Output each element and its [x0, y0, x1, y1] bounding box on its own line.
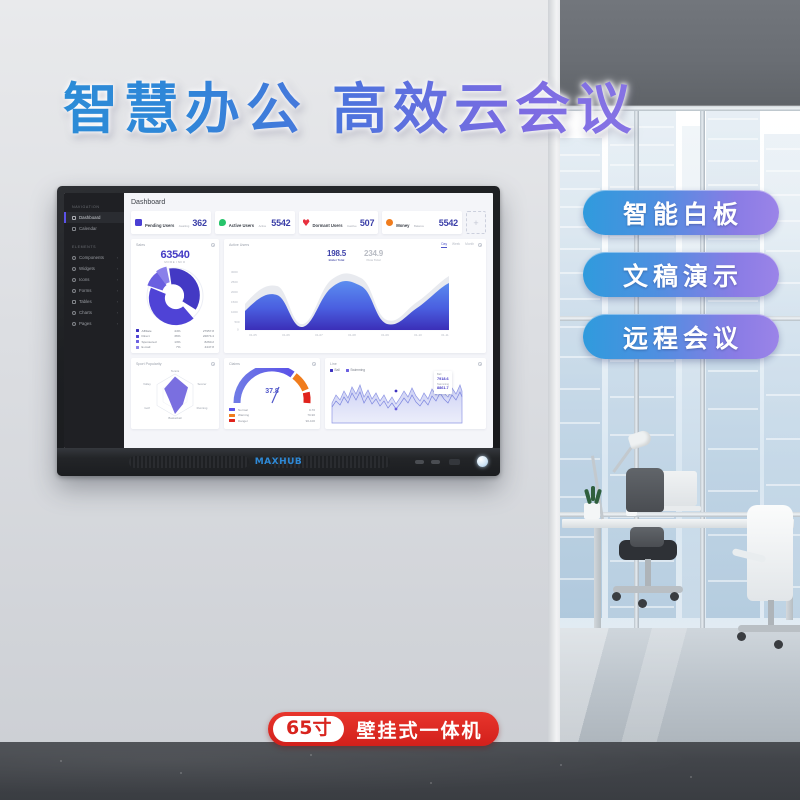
tab-month[interactable]: Month: [465, 242, 474, 248]
sidebar-item-tables[interactable]: Tables ›: [64, 296, 124, 307]
sidebar-section-navigation: NAVIGATION: [64, 200, 124, 212]
legend-swatch: [136, 340, 139, 343]
sidebar-item-label: Pages: [79, 321, 91, 326]
page-icon: [72, 322, 76, 326]
gear-icon[interactable]: [312, 362, 316, 366]
chat-icon: [219, 219, 226, 226]
sidebar-item-label: Tables: [79, 299, 92, 304]
stat-card-title: Pending Users: [145, 223, 174, 228]
brand-logo: MAXHUB: [255, 457, 303, 467]
card-title: Sport Popularity: [136, 362, 214, 366]
sidebar-item-pages[interactable]: Pages ›: [64, 318, 124, 329]
stat-card-value: 5542: [271, 218, 290, 228]
chart-icon: [72, 311, 76, 315]
card-title: Claims: [229, 362, 315, 366]
svg-text:Basketball: Basketball: [168, 416, 182, 420]
stat-card-title: Active Users: [229, 223, 254, 228]
sidebar-item-label: Components: [79, 255, 104, 260]
legend-label: Affiliate: [142, 329, 168, 333]
desk-leg: [594, 528, 601, 628]
active-users-card: Active Users Day Week Month 198.5 Boiler…: [224, 239, 486, 353]
gear-icon[interactable]: [211, 362, 215, 366]
sidebar-item-widgets[interactable]: Widgets ›: [64, 263, 124, 274]
tab-week[interactable]: Week: [452, 242, 460, 248]
legend-swatch: [330, 369, 333, 372]
legend-value: 27957.8: [181, 329, 215, 333]
gear-icon[interactable]: [478, 362, 482, 366]
chair-caster: [774, 640, 783, 649]
chair-caster: [638, 599, 647, 608]
legend-label: Sponsored: [142, 340, 168, 344]
office-floor: [560, 628, 800, 742]
chevron-right-icon: ›: [117, 267, 118, 271]
feature-pill-whiteboard[interactable]: 智能白板: [583, 190, 779, 235]
stat-card-pending-users[interactable]: Pending Users Awaiting 362: [131, 211, 211, 234]
display-screen[interactable]: NAVIGATION Dashboard Calendar ELEMENTS C…: [64, 193, 493, 448]
power-indicator[interactable]: [477, 456, 488, 467]
legend-swatch: [136, 335, 139, 338]
kpi-flow-total-value: 234.9: [364, 249, 383, 258]
kpi-boiler-total-value: 198.5: [327, 249, 346, 258]
legend-item: Danger 90-100: [229, 419, 315, 423]
tab-day[interactable]: Day: [441, 242, 447, 248]
stat-card-title: Money: [396, 223, 409, 228]
badge-size-label: 65寸: [273, 716, 344, 742]
legend-swatch: [346, 369, 349, 372]
legend-swatch: [229, 414, 235, 417]
product-badge: 65寸 壁挂式一体机: [268, 712, 499, 746]
legend-label: Swimming: [350, 368, 365, 372]
chevron-right-icon: ›: [117, 322, 118, 326]
stat-card-subtitle: Balance: [414, 224, 424, 228]
legend-label: E-mail: [142, 345, 168, 349]
stat-card-row: Pending Users Awaiting 362 Active Users …: [131, 211, 486, 234]
sidebar-item-label: Forms: [79, 288, 91, 293]
sidebar-item-label: Widgets: [79, 266, 95, 271]
legend-item: Normal 0-70: [229, 408, 315, 412]
chevron-right-icon: ›: [117, 300, 118, 304]
widget-row-lower: Sport Popularity Tennis Socce: [131, 358, 486, 429]
legend-range: 90-100: [306, 419, 315, 423]
sidebar-item-forms[interactable]: Forms ›: [64, 285, 124, 296]
calendar-icon: [72, 227, 76, 231]
plant-pot: [584, 503, 600, 519]
donut-chart: [137, 265, 213, 327]
legend-item-swimming[interactable]: Swimming: [346, 368, 365, 372]
chart-range-tabs: Day Week Month: [441, 242, 474, 248]
gear-icon[interactable]: [478, 243, 482, 247]
legend-label: Normal: [238, 408, 309, 412]
legend-item-ball[interactable]: Ball: [330, 368, 340, 372]
gear-icon[interactable]: [211, 243, 215, 247]
kpi-flow-total-label: Flow Total: [364, 258, 383, 262]
stat-card-value: 362: [192, 218, 206, 228]
chair-post: [645, 559, 651, 587]
chair-caster: [670, 592, 679, 601]
device-bezel-bottom: MAXHUB: [57, 448, 500, 476]
area-chart: 300025002000 15001000500 0 01-0501-06 01…: [229, 264, 451, 338]
ir-sensor: [449, 459, 460, 465]
interactive-flat-panel: NAVIGATION Dashboard Calendar ELEMENTS C…: [57, 186, 500, 476]
svg-text:Golf: Golf: [144, 406, 149, 410]
legend-value: 4447.8: [181, 345, 215, 349]
sidebar: NAVIGATION Dashboard Calendar ELEMENTS C…: [64, 193, 124, 448]
kpi-row: 198.5 Boiler Total 234.9 Flow Total: [229, 249, 481, 262]
tooltip-value: 7918.6: [437, 377, 449, 383]
legend-label: Danger: [238, 419, 306, 423]
dashboard-app: NAVIGATION Dashboard Calendar ELEMENTS C…: [64, 193, 493, 448]
chevron-right-icon: ›: [117, 289, 118, 293]
legend-label: Ball: [335, 368, 340, 372]
legend-item: Warning 70-90: [229, 413, 315, 417]
floor: [0, 742, 800, 800]
legend-range: 0-70: [309, 408, 315, 412]
add-card-button[interactable]: +: [466, 211, 486, 234]
legend-value: 22874.4: [181, 334, 215, 338]
chevron-right-icon: ›: [117, 256, 118, 260]
claims-gauge-card: Claims: [224, 358, 320, 429]
sidebar-item-label: Charts: [79, 310, 92, 315]
heart-icon: [303, 219, 310, 226]
sidebar-section-elements: ELEMENTS: [64, 240, 124, 252]
poster-headline: 智慧办公 高效云会议: [0, 64, 700, 144]
stat-card-title: Dormant Users: [313, 223, 343, 228]
chart-legend: Ball Swimming: [330, 368, 481, 372]
kpi-boiler-total-label: Boiler Total: [327, 258, 346, 262]
svg-text:01-07: 01-07: [315, 333, 323, 337]
chair-post: [768, 600, 774, 626]
card-title: Sales: [136, 243, 214, 247]
stat-card-value: 507: [360, 218, 374, 228]
legend-item: Affiliate 44% 27957.8: [136, 329, 214, 333]
legend-percent: 13%: [168, 340, 181, 344]
feature-pill-remote-meeting[interactable]: 远程会议: [583, 314, 779, 359]
sidebar-item-label: Calendar: [79, 226, 97, 231]
stat-card-subtitle: Inactive: [347, 224, 357, 228]
stat-card-dormant-users[interactable]: Dormant Users Inactive 507: [299, 211, 379, 234]
star-icon: [72, 278, 76, 282]
sales-donut-card: Sales 63540 MORE INFO: [131, 239, 219, 353]
svg-text:1000: 1000: [231, 310, 238, 314]
grid-icon: [72, 256, 76, 260]
sidebar-item-dashboard[interactable]: Dashboard: [64, 212, 124, 223]
gauge-value: 37.8: [265, 388, 279, 395]
feature-pill-presentation[interactable]: 文稿演示: [583, 252, 779, 297]
page-title: Dashboard: [131, 199, 486, 206]
office-chair-dark-back: [626, 468, 664, 512]
card-title: Line: [330, 362, 481, 366]
legend-range: 70-90: [307, 413, 315, 417]
svg-text:01-06: 01-06: [282, 333, 290, 337]
svg-text:01-11: 01-11: [441, 333, 449, 337]
sidebar-item-charts[interactable]: Charts ›: [64, 307, 124, 318]
legend-percent: 7%: [168, 345, 181, 349]
office-chair-dark-lumbar: [630, 527, 664, 547]
stat-card-subtitle: Awaiting: [179, 224, 190, 228]
stat-card-value: 5542: [439, 218, 458, 228]
device-port[interactable]: [415, 460, 424, 464]
stat-card-subtitle: Active: [259, 224, 267, 228]
svg-text:01-08: 01-08: [348, 333, 356, 337]
legend-swatch: [136, 346, 139, 349]
svg-text:01-05: 01-05: [249, 333, 257, 337]
svg-text:Running: Running: [197, 406, 208, 410]
sales-more-info-label: MORE INFO: [136, 260, 214, 264]
svg-text:01-10: 01-10: [414, 333, 422, 337]
legend-item: E-mail 7% 4447.8: [136, 345, 214, 349]
sidebar-item-calendar[interactable]: Calendar: [64, 223, 124, 234]
legend-swatch: [229, 408, 235, 411]
chevron-right-icon: ›: [117, 278, 118, 282]
widget-row-upper: Sales 63540 MORE INFO: [131, 239, 486, 353]
stat-card-active-users[interactable]: Active Users Active 5542: [215, 211, 295, 234]
legend-label: Warning: [238, 413, 307, 417]
tooltip-value: 8861.7: [437, 386, 449, 392]
chart-tooltip: Ball 7918.6 Swimming 8861.7: [434, 371, 452, 394]
legend-value: 8260.2: [181, 340, 215, 344]
svg-text:Tennis: Tennis: [171, 369, 180, 373]
svg-text:2000: 2000: [231, 290, 238, 294]
chair-caster: [737, 632, 746, 641]
sidebar-item-label: Dashboard: [79, 215, 100, 220]
line-chart-card: Line Ball Swimming: [325, 358, 486, 429]
chair-base: [738, 625, 800, 632]
legend-item: Sponsored 13% 8260.2: [136, 340, 214, 344]
svg-text:Soccer: Soccer: [198, 382, 207, 386]
form-icon: [72, 289, 76, 293]
home-icon: [72, 216, 76, 220]
dashboard-main: Dashboard Pending Users Awaiting 362: [124, 193, 493, 448]
legend-swatch: [229, 419, 235, 422]
svg-text:0: 0: [237, 328, 239, 332]
square-icon: [135, 219, 142, 226]
legend-swatch: [136, 329, 139, 332]
sport-popularity-card: Sport Popularity Tennis Socce: [131, 358, 219, 429]
speaker-grille-left: [129, 456, 249, 468]
legend-item: Direct 36% 22874.4: [136, 334, 214, 338]
chair-caster: [612, 592, 621, 601]
legend-percent: 36%: [168, 334, 181, 338]
coin-icon: [386, 219, 393, 226]
svg-text:500: 500: [235, 320, 240, 324]
svg-text:01-09: 01-09: [381, 333, 389, 337]
table-icon: [72, 300, 76, 304]
sidebar-item-icons[interactable]: Icons ›: [64, 274, 124, 285]
radar-series: [164, 377, 188, 415]
badge-type-label: 壁挂式一体机: [356, 716, 482, 743]
feature-pill-list: 智能白板 文稿演示 远程会议: [583, 190, 793, 376]
legend-label: Direct: [142, 334, 168, 338]
sidebar-item-components[interactable]: Components ›: [64, 252, 124, 263]
sidebar-item-label: Icons: [79, 277, 90, 282]
svg-text:3000: 3000: [231, 270, 238, 274]
svg-text:1500: 1500: [231, 300, 238, 304]
gauge-chart: [229, 368, 315, 406]
stat-card-money[interactable]: Money Balance 5542: [382, 211, 462, 234]
device-port[interactable]: [431, 460, 440, 464]
radar-chart: Tennis Soccer Running Basketball Golf Vo…: [136, 368, 214, 420]
widget-icon: [72, 267, 76, 271]
svg-text:Volley: Volley: [143, 382, 151, 386]
svg-text:2500: 2500: [231, 280, 238, 284]
chevron-right-icon: ›: [117, 311, 118, 315]
legend-percent: 44%: [168, 329, 181, 333]
